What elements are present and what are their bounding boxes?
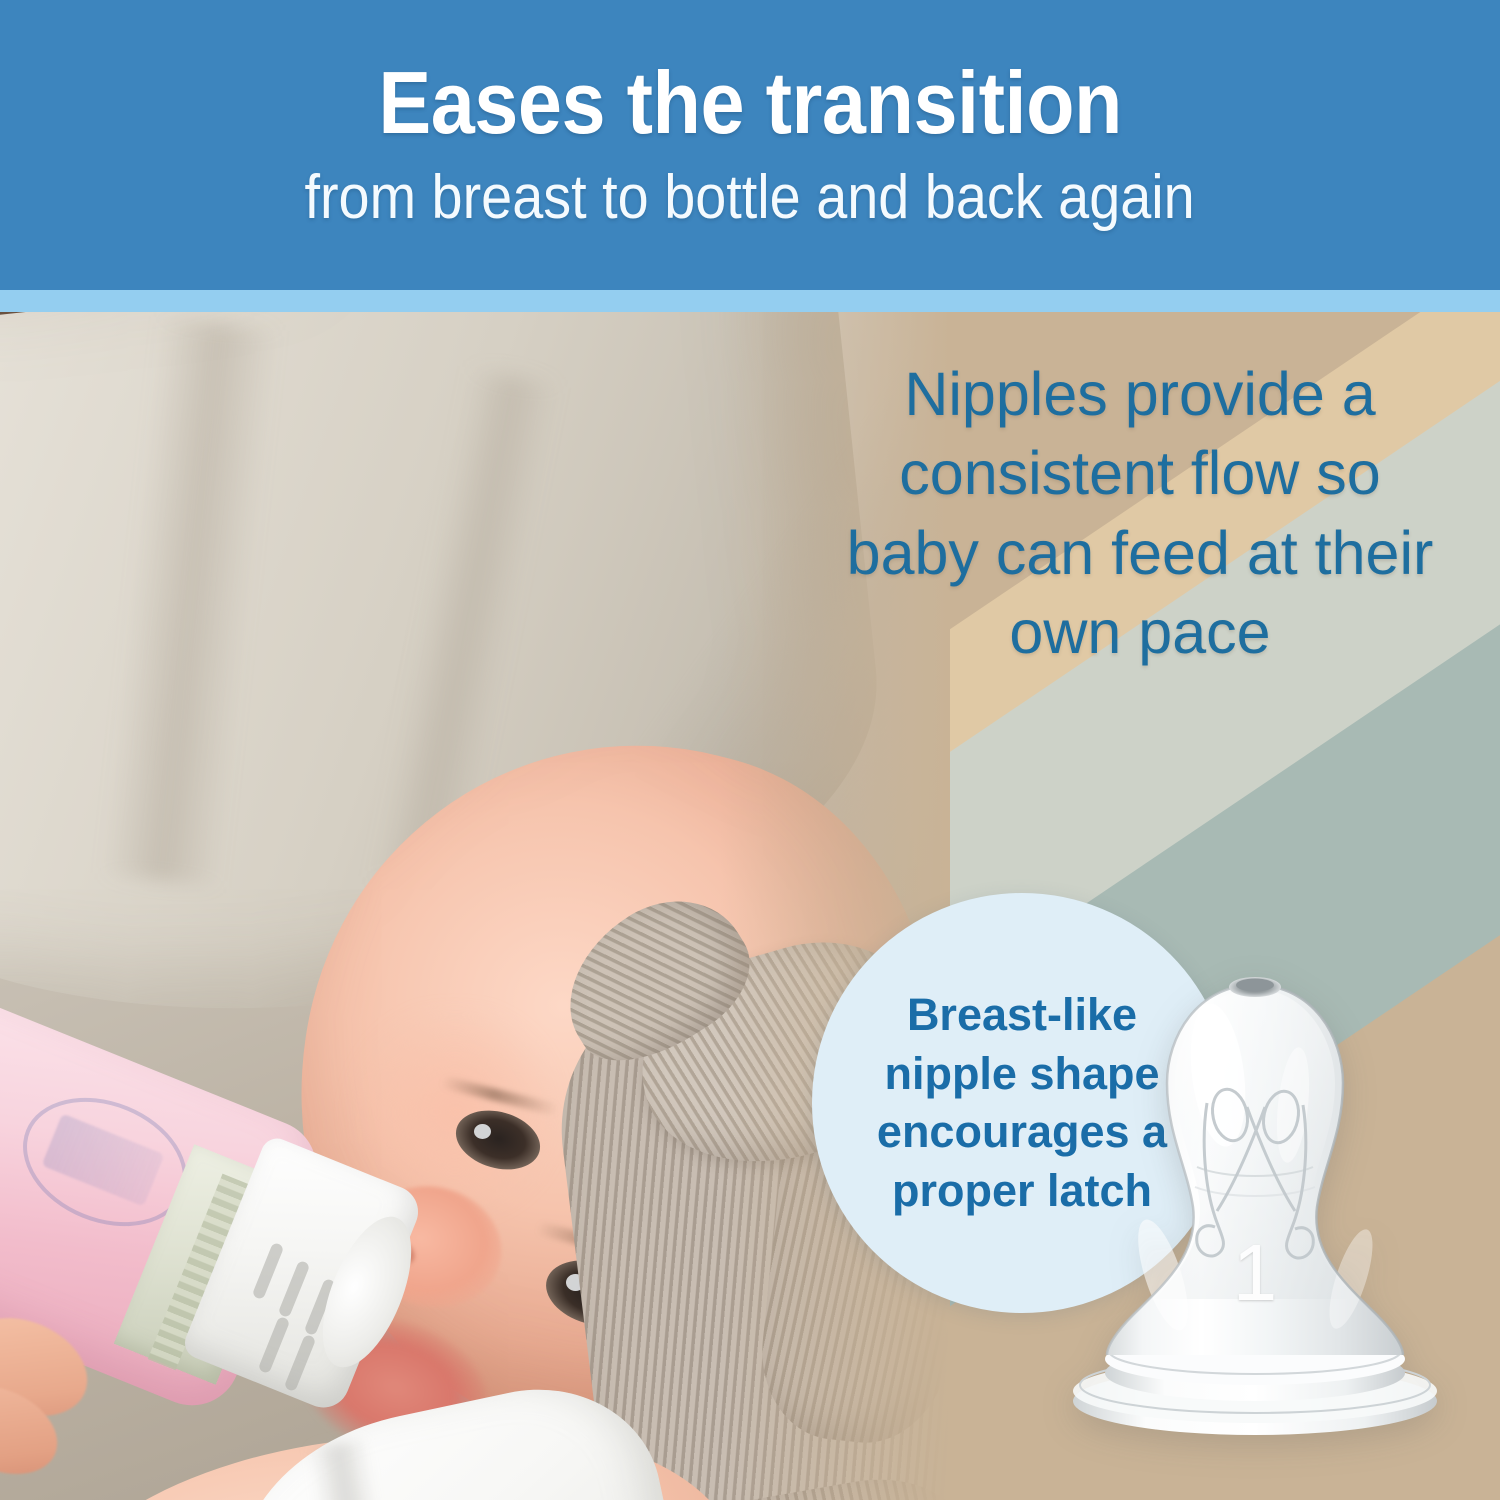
- feeding-photo: [0, 312, 950, 1500]
- marketing-infographic: Eases the transition from breast to bott…: [0, 0, 1500, 1500]
- body-copy: Nipples provide a consistent flow so bab…: [840, 355, 1440, 672]
- banner-accent-strip: [0, 290, 1500, 312]
- nipple-svg: [1055, 955, 1455, 1445]
- nipple-product-image: 1: [1055, 955, 1455, 1445]
- header-banner: Eases the transition from breast to bott…: [0, 0, 1500, 290]
- headline: Eases the transition: [378, 59, 1122, 147]
- subheadline: from breast to bottle and back again: [305, 165, 1195, 230]
- baby-eye-highlight: [474, 1124, 491, 1139]
